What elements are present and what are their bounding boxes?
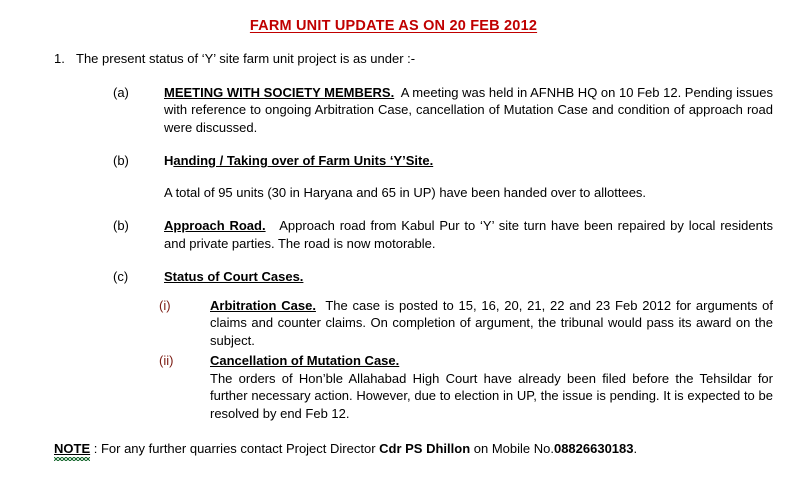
paragraph-item-b-handing-text: A total of 95 units (30 in Haryana and 6…	[14, 184, 773, 202]
item-c-ii-body: Cancellation of Mutation Case. The order…	[210, 352, 773, 422]
paragraph-item-c-ii-mutation: (ii) Cancellation of Mutation Case. The …	[14, 352, 773, 422]
document-page: FARM UNIT UPDATE AS ON 20 FEB 2012 1. Th…	[0, 0, 787, 477]
paragraph-item-1: 1. The present status of ‘Y’ site farm u…	[14, 50, 773, 68]
spacer	[266, 218, 280, 233]
note-text-before-name: For any further quarries contact Project…	[101, 441, 379, 456]
item-c-ii-heading-line: Cancellation of Mutation Case.	[210, 352, 773, 370]
item-b-handing-heading-lead: H	[164, 153, 173, 168]
note-phone-number: 08826630183	[554, 441, 634, 456]
item-c-ii-heading: Cancellation of Mutation Case.	[210, 353, 399, 368]
note-separator: :	[90, 441, 101, 456]
paragraph-item-a: (a) MEETING WITH SOCIETY MEMBERS. A meet…	[14, 84, 773, 137]
note-contact-name: Cdr PS Dhillon	[379, 441, 470, 456]
item-c-i-marker: (i)	[14, 297, 210, 315]
item-b-handing-text: A total of 95 units (30 in Haryana and 6…	[164, 184, 773, 202]
note-text-after-name: on Mobile No.	[470, 441, 554, 456]
item-1-marker: 1.	[14, 50, 76, 68]
item-b-handing-heading-row: Handing / Taking over of Farm Units ‘Y’S…	[164, 152, 773, 170]
item-c-ii-text: The orders of Hon’ble Allahabad High Cou…	[210, 370, 773, 423]
item-b-approach-road-body: Approach Road. Approach road from Kabul …	[164, 217, 773, 252]
paragraph-item-b-handing: (b) Handing / Taking over of Farm Units …	[14, 152, 773, 170]
item-c-marker: (c)	[14, 268, 164, 286]
item-a-marker: (a)	[14, 84, 164, 102]
note-trailing: .	[634, 441, 638, 456]
item-a-body: MEETING WITH SOCIETY MEMBERS. A meeting …	[164, 84, 773, 137]
item-b-handing-marker: (b)	[14, 152, 164, 170]
item-c-heading: Status of Court Cases.	[164, 269, 303, 284]
item-c-i-heading: Arbitration Case.	[210, 298, 316, 313]
document-title-text: FARM UNIT UPDATE AS ON 20 FEB 2012	[250, 18, 537, 34]
item-b-approach-road-marker: (b)	[14, 217, 164, 235]
paragraph-item-c-court-cases: (c) Status of Court Cases.	[14, 268, 773, 286]
item-c-i-body: Arbitration Case. The case is posted to …	[210, 297, 773, 350]
item-a-heading: MEETING WITH SOCIETY MEMBERS.	[164, 85, 394, 100]
spacer	[316, 298, 325, 313]
item-b-handing-heading: anding / Taking over of Farm Units ‘Y’Si…	[173, 153, 433, 168]
document-title: FARM UNIT UPDATE AS ON 20 FEB 2012	[14, 18, 773, 34]
note-label: NOTE	[54, 441, 90, 456]
item-1-text: The present status of ‘Y’ site farm unit…	[76, 50, 773, 68]
item-c-heading-row: Status of Court Cases.	[164, 268, 773, 286]
paragraph-item-c-i-arbitration: (i) Arbitration Case. The case is posted…	[14, 297, 773, 350]
item-c-ii-marker: (ii)	[14, 352, 210, 370]
note-line: NOTE : For any further quarries contact …	[14, 440, 773, 458]
item-b-approach-road-heading: Approach Road.	[164, 218, 266, 233]
paragraph-item-b-approach-road: (b) Approach Road. Approach road from Ka…	[14, 217, 773, 252]
